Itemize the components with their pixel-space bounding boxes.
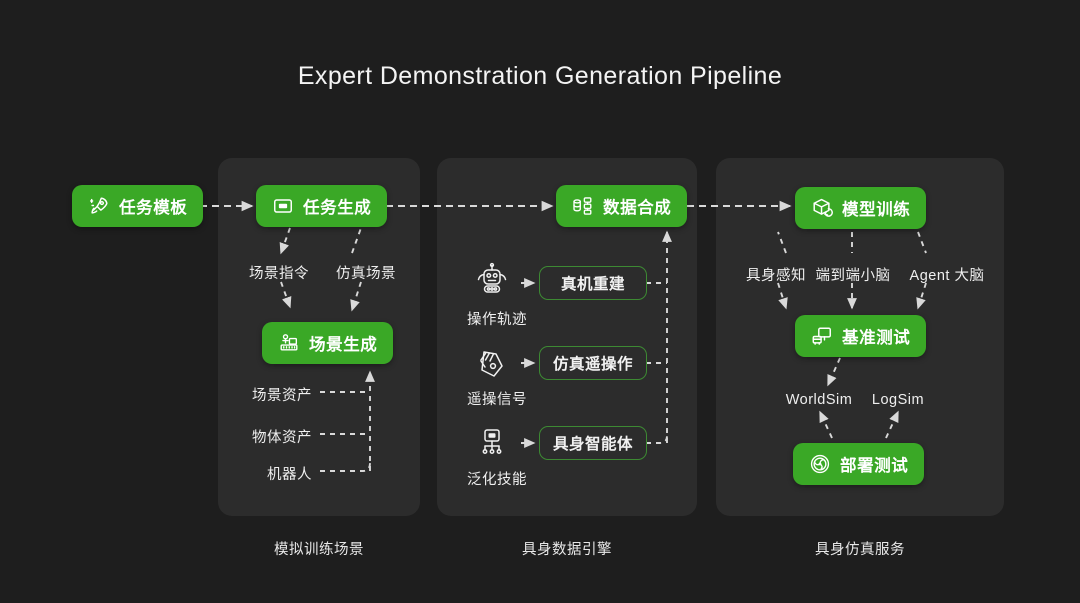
label-worldsim: WorldSim [786,392,853,408]
caption-embodied-data-engine: 具身数据引擎 [437,538,697,559]
caption-simulation-training-scene: 模拟训练场景 [218,538,420,559]
chip-icon [472,424,512,462]
page-title: Expert Demonstration Generation Pipeline [0,62,1080,91]
label-logsim: LogSim [872,392,924,408]
label-embodied-perception: 具身感知 [746,264,806,285]
label-end-to-end-cerebellum: 端到端小脑 [816,264,891,285]
template-icon [272,195,294,217]
monitor-icon [811,325,833,347]
label-operation-trajectory: 操作轨迹 [467,308,527,329]
box-label: 具身智能体 [553,432,633,454]
box-embodied-agent[interactable]: 具身智能体 [539,426,647,460]
node-benchmark-test[interactable]: 基准测试 [795,315,926,357]
node-label: 数据合成 [603,194,671,218]
box-label: 仿真遥操作 [553,352,633,374]
node-label: 任务生成 [303,194,371,218]
node-label: 任务模板 [119,194,187,218]
node-deployment-test[interactable]: 部署测试 [793,443,924,485]
data-sync-icon [572,195,594,217]
label-robot: 机器人 [267,463,312,484]
cube-refresh-icon [811,197,833,219]
label-generalized-skill: 泛化技能 [467,468,527,489]
label-teleop-signal: 遥操信号 [467,388,527,409]
robot-icon [472,262,512,300]
node-task-generation[interactable]: 任务生成 [256,185,387,227]
label-scene-instruction: 场景指令 [249,262,309,283]
box-real-machine-reconstruction[interactable]: 真机重建 [539,266,647,300]
node-scene-generation[interactable]: 场景生成 [262,322,393,364]
node-data-synthesis[interactable]: 数据合成 [556,185,687,227]
label-scene-asset: 场景资产 [252,384,312,405]
node-label: 基准测试 [842,324,910,348]
scene-robot-icon [278,332,300,354]
swirl-icon [809,453,831,475]
node-model-training[interactable]: 模型训练 [795,187,926,229]
node-task-template[interactable]: 任务模板 [72,185,203,227]
rocket-icon [88,195,110,217]
diagram-canvas: Expert Demonstration Generation Pipeline [0,0,1080,603]
label-object-asset: 物体资产 [252,426,312,447]
node-label: 部署测试 [840,452,908,476]
label-simulation-scene: 仿真场景 [336,262,396,283]
node-label: 场景生成 [309,331,377,355]
glove-icon [472,344,512,382]
box-label: 真机重建 [561,272,625,294]
caption-embodied-simulation-service: 具身仿真服务 [716,538,1004,559]
box-simulated-teleoperation[interactable]: 仿真遥操作 [539,346,647,380]
label-agent-brain: Agent 大脑 [910,264,985,285]
node-label: 模型训练 [842,196,910,220]
